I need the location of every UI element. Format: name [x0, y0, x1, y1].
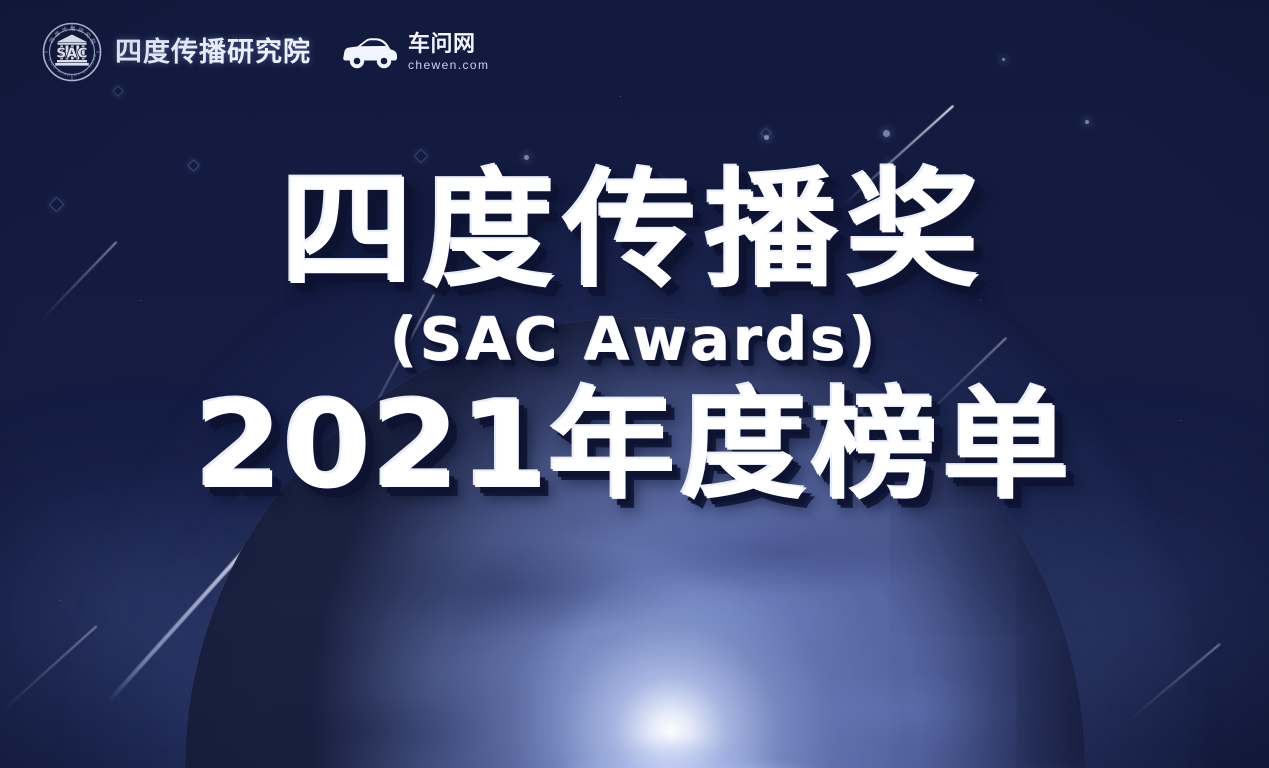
- planet-hotspot-glow: [506, 743, 836, 768]
- star-icon: [1002, 58, 1005, 61]
- star-icon: [762, 129, 770, 137]
- partner-name: 车问网: [408, 33, 489, 55]
- page-title: 四度传播奖: [0, 168, 1269, 296]
- sac-seal-icon: SAC 四度传播研究院 SIDU ACADEMY OF COMMUNICATIO…: [42, 22, 102, 82]
- star-icon: [1085, 120, 1089, 124]
- partner-text: 车问网 chewen.com: [408, 33, 489, 71]
- award-poster: SAC 四度传播研究院 SIDU ACADEMY OF COMMUNICATIO…: [0, 0, 1269, 768]
- brand-name: 四度传播研究院: [115, 39, 311, 66]
- headline-block: 四度传播奖 (SAC Awards) 2021年度榜单: [0, 168, 1269, 507]
- page-subtitle: (SAC Awards): [0, 310, 1269, 369]
- star-icon: [883, 130, 890, 137]
- star-icon: [764, 135, 769, 140]
- partner-url: chewen.com: [408, 59, 489, 71]
- car-icon: [341, 32, 399, 72]
- page-year-title: 2021年度榜单: [0, 387, 1269, 507]
- meteor-icon: [1128, 643, 1221, 721]
- meteor-icon: [0, 625, 97, 713]
- partner-chewen[interactable]: 车问网 chewen.com: [341, 32, 489, 72]
- star-speck: [60, 600, 61, 601]
- year-number: 2021: [195, 377, 549, 516]
- meteor-icon: [107, 507, 284, 703]
- star-icon: [114, 87, 122, 95]
- brand-sac[interactable]: SAC 四度传播研究院 SIDU ACADEMY OF COMMUNICATIO…: [42, 22, 311, 82]
- header: SAC 四度传播研究院 SIDU ACADEMY OF COMMUNICATIO…: [42, 22, 489, 82]
- svg-text:SAC: SAC: [56, 45, 87, 61]
- star-speck: [620, 96, 621, 97]
- year-suffix: 年度榜单: [549, 377, 1075, 516]
